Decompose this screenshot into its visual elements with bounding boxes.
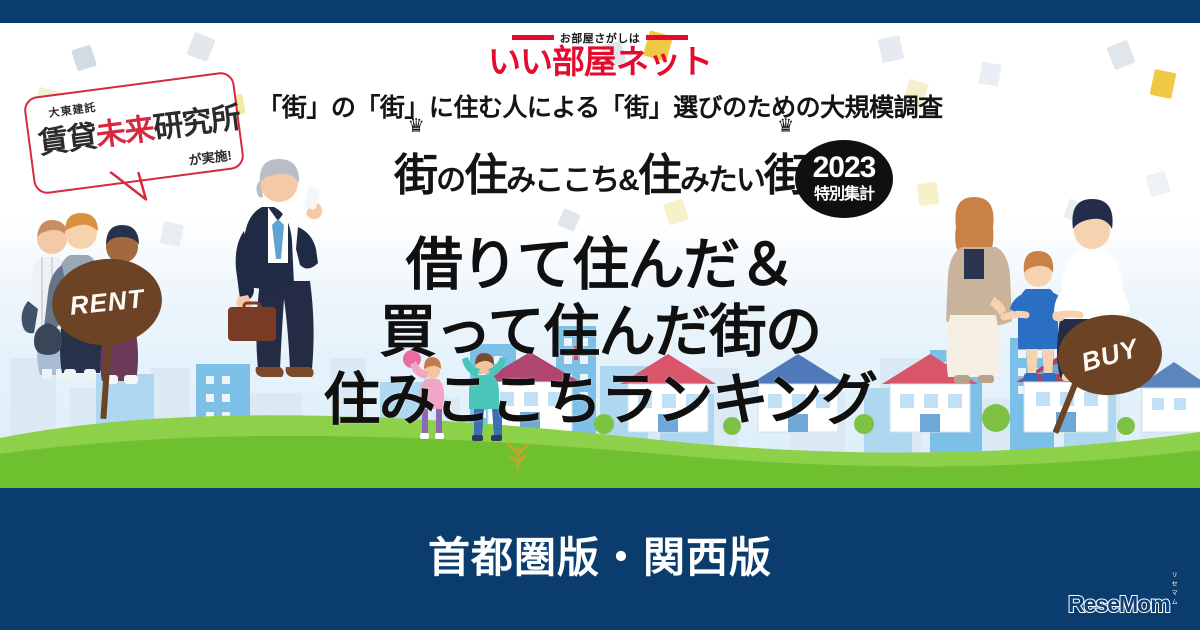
floating-paper: [71, 44, 97, 71]
main-heading-line-2: 買って住んだ街の: [0, 299, 1200, 366]
logo-bar-left: [512, 35, 554, 40]
floating-paper: [186, 32, 215, 62]
series-title-no: の: [436, 164, 464, 197]
logo-bar-right: [646, 35, 688, 40]
logo-wordmark: いい部屋ネット: [480, 45, 720, 80]
floating-paper: [1106, 40, 1135, 70]
year-badge-year: 2023: [813, 153, 876, 183]
resemom-watermark: ReseMom リセマム: [1068, 588, 1184, 618]
series-title-machi-1: 街: [394, 139, 436, 203]
survey-subtitle: 「街」の「街」に住む人による「街」選びのための大規模調査: [0, 88, 1200, 124]
floating-paper: [978, 61, 1002, 86]
series-title-mitai: みたい: [680, 164, 764, 197]
resemom-wordmark: ReseMom: [1068, 591, 1170, 618]
poster-canvas: RENT BUY お部屋さがしは いい部屋ネット 大東建託 賃貸未来研究所 が実…: [0, 0, 1200, 630]
top-navy-band: [0, 0, 1200, 23]
series-title-sumi-2: 住: [638, 151, 680, 200]
floating-paper: [557, 208, 581, 232]
resemom-kana: リセマム: [1172, 570, 1184, 606]
series-title: 街の住みここち&住みたい街: [0, 139, 1200, 203]
edition-label: 首都圏版・関西版: [0, 524, 1200, 585]
main-heading-line-1: 借りて住んだ＆: [0, 232, 1200, 299]
floating-paper: [878, 35, 905, 63]
year-badge: 2023 特別集計: [795, 140, 893, 218]
series-title-sumi-1: 住: [464, 151, 506, 200]
main-heading-line-3: 住みここちランキング: [0, 367, 1200, 434]
year-badge-label: 特別集計: [814, 185, 874, 204]
main-heading: 借りて住んだ＆ 買って住んだ街の 住みここちランキング: [0, 232, 1200, 434]
iiheya-net-logo[interactable]: お部屋さがしは いい部屋ネット: [480, 31, 720, 80]
series-title-mikokochi: みここち&: [506, 164, 638, 197]
